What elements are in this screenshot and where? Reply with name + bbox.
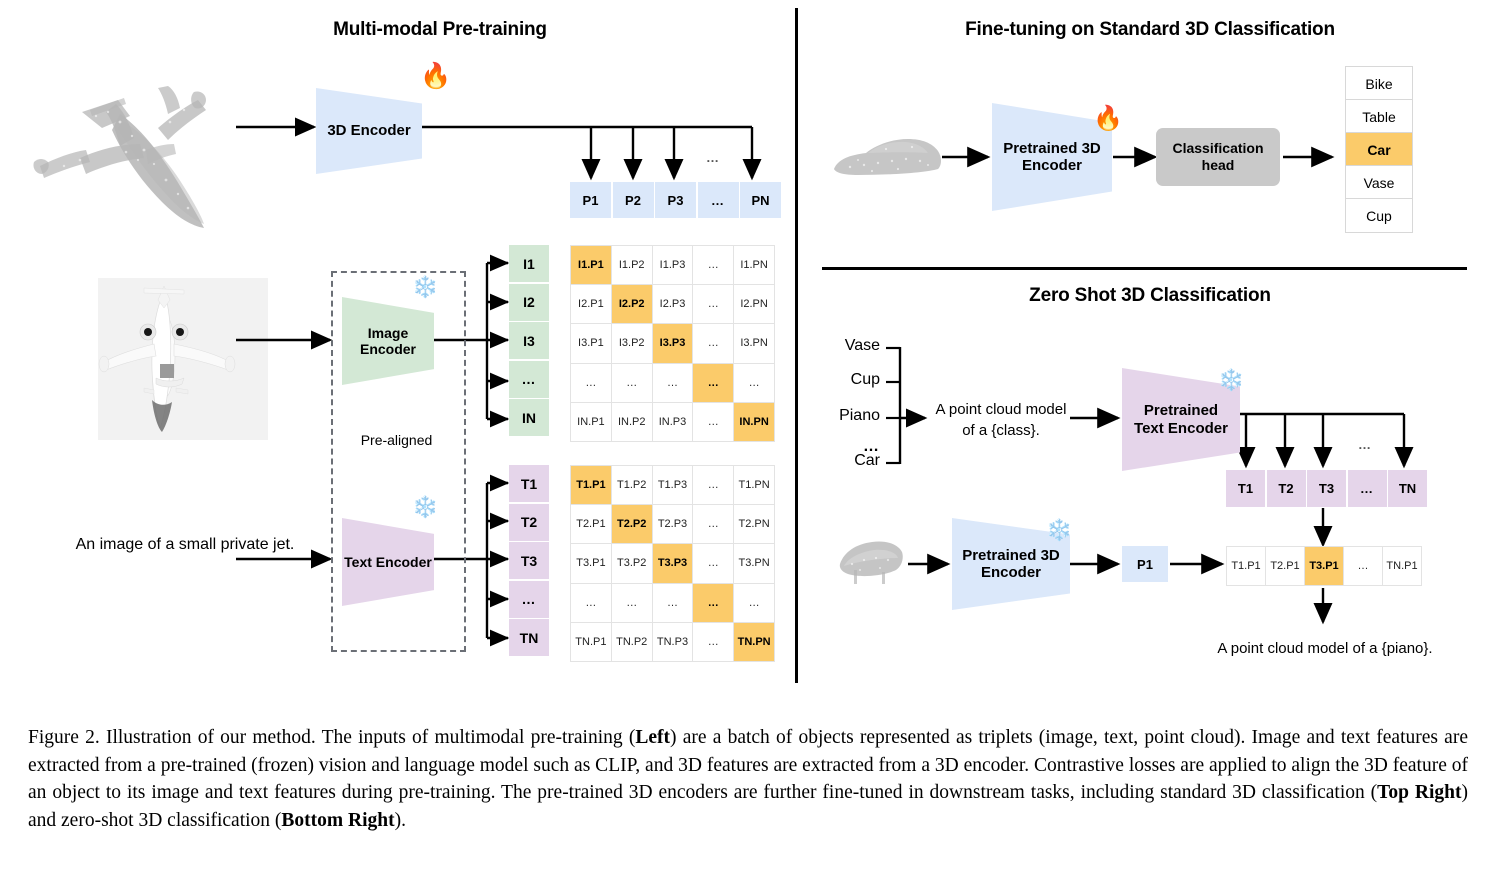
text-encoder-label: Text Encoder [344,554,432,570]
t-token[interactable]: T2 [1267,470,1306,507]
image-encoder-label: Image Encoder [342,325,434,357]
matrix-cell: I1.PN [734,246,775,285]
matrix-cell: IN.P3 [652,402,693,441]
t-row-ellipsis: … [1358,437,1372,452]
image-encoder-box[interactable]: Image Encoder [342,297,434,385]
zeroshot-class-cup: Cup [820,371,880,389]
text-token[interactable]: T2 [509,504,549,541]
class-option-car[interactable]: Car [1345,132,1413,167]
horizontal-divider [822,267,1467,270]
p-token[interactable]: P3 [655,182,696,218]
text-token[interactable]: T1 [509,465,549,502]
matrix-cell: I2.P1 [571,285,612,324]
matrix-cell: … [693,544,734,583]
image-similarity-matrix: I1.P1 I1.P2 I1.P3 … I1.PN I2.P1 I2.P2 I2… [570,245,775,442]
matrix-cell: T3.P3 [652,544,693,583]
matrix-cell: IN.P2 [611,402,652,441]
matrix-cell: … [693,402,734,441]
zeroshot-class-piano: Piano [814,407,880,425]
class-option-table[interactable]: Table [1345,99,1413,134]
class-label: Table [1362,109,1395,125]
t-token[interactable]: T1 [1226,470,1265,507]
matrix-cell: … [611,363,652,402]
matrix-cell: T2.P2 [611,505,652,544]
prompt-template-text: A point cloud model of a {class}. [930,399,1072,441]
matrix-cell: T1.PN [734,466,775,505]
matrix-cell: T3.P1 [571,544,612,583]
panel-title-pretraining: Multi-modal Pre-training [220,19,660,41]
matrix-cell: T3.P1 [1305,547,1344,586]
jet-image-thumbnail [98,278,268,440]
p-token: … [698,182,739,218]
car-point-cloud [828,125,948,190]
p-token[interactable]: PN [740,182,781,218]
matrix-cell: … [652,583,693,622]
fire-icon: 🔥 [1093,107,1123,131]
zeroshot-class-car: Car [820,452,880,470]
matrix-cell: I3.P1 [571,324,612,363]
input-text-caption: An image of a small private jet. [40,533,330,556]
matrix-cell: T1.P3 [652,466,693,505]
zeroshot-output-text: A point cloud model of a {piano}. [1180,640,1470,657]
encoder-3d-box[interactable]: 3D Encoder [316,88,422,174]
pretrained-3d-encoder-label: Pretrained 3D Encoder [959,547,1063,582]
zeroshot-similarity-row: T1.P1 T2.P1 T3.P1 … TN.P1 [1226,546,1422,586]
table-row: T2.P1 T2.P2 T2.P3 … T2.PN [571,505,775,544]
matrix-cell: I1.P3 [652,246,693,285]
classification-head-label: Classification head [1163,140,1273,174]
image-token[interactable]: I3 [509,322,549,359]
t-token[interactable]: TN [1388,470,1427,507]
matrix-cell: … [571,583,612,622]
class-option-bike[interactable]: Bike [1345,66,1413,101]
fire-icon: 🔥 [420,64,451,89]
matrix-cell: … [571,363,612,402]
matrix-cell: TN.P3 [652,622,693,661]
matrix-cell: … [652,363,693,402]
caption-text-4: ). [395,810,406,831]
matrix-cell: I1.P1 [571,246,612,285]
text-encoder-box[interactable]: Text Encoder [342,518,434,606]
matrix-cell: T1.P2 [611,466,652,505]
t-token: … [1348,470,1387,507]
matrix-cell: IN.P1 [571,402,612,441]
matrix-cell: TN.PN [734,622,775,661]
matrix-cell: T2.PN [734,505,775,544]
matrix-cell: … [1344,547,1383,586]
class-label: Car [1367,142,1390,158]
matrix-cell: T3.P2 [611,544,652,583]
snowflake-icon: ❄️ [1046,520,1072,541]
matrix-cell: … [693,466,734,505]
snowflake-icon: ❄️ [1218,370,1244,391]
p-row-ellipsis: … [706,150,720,165]
matrix-cell: TN.P2 [611,622,652,661]
table-row: … … … … … [571,363,775,402]
caption-text-1: Illustration of our method. The inputs o… [100,727,636,748]
matrix-cell: I3.PN [734,324,775,363]
caption-figure-label: Figure 2. [28,727,100,748]
text-token[interactable]: T3 [509,542,549,579]
class-label: Cup [1366,208,1392,224]
matrix-cell: … [611,583,652,622]
pretrained-3d-encoder-label: Pretrained 3D Encoder [1001,140,1103,175]
table-row: T1.P1 T1.P2 T1.P3 … T1.PN [571,466,775,505]
matrix-cell: I2.P3 [652,285,693,324]
matrix-cell: I3.P3 [652,324,693,363]
table-row: I3.P1 I3.P2 I3.P3 … I3.PN [571,324,775,363]
matrix-cell: I2.PN [734,285,775,324]
encoder-3d-label: 3D Encoder [327,122,410,139]
text-token: … [509,581,549,618]
matrix-cell: T1.P1 [571,466,612,505]
p-token-row: P1 P2 P3 … PN [570,182,781,218]
class-option-vase[interactable]: Vase [1345,165,1413,200]
table-row: I2.P1 I2.P2 I2.P3 … I2.PN [571,285,775,324]
image-token[interactable]: I1 [509,245,549,282]
matrix-cell: T3.PN [734,544,775,583]
matrix-cell: I2.P2 [611,285,652,324]
matrix-cell: I3.P2 [611,324,652,363]
caption-bold-bottomright: Bottom Right [281,810,394,831]
piano-point-cloud [830,528,912,590]
table-row: T3.P1 T3.P2 T3.P3 … T3.PN [571,544,775,583]
matrix-cell: … [693,324,734,363]
matrix-cell: IN.PN [734,402,775,441]
matrix-cell: … [693,285,734,324]
image-token-column: I1 I2 I3 … IN [509,245,549,436]
matrix-cell: … [734,363,775,402]
matrix-cell: … [693,583,734,622]
panel-title-zeroshot: Zero Shot 3D Classification [855,285,1445,307]
matrix-cell: TN.P1 [1383,547,1422,586]
panel-title-finetuning: Fine-tuning on Standard 3D Classificatio… [855,19,1445,41]
airplane-point-cloud [20,42,230,232]
class-option-cup[interactable]: Cup [1345,198,1413,233]
matrix-cell: T1.P1 [1227,547,1266,586]
p-token[interactable]: P2 [613,182,654,218]
matrix-cell: … [693,246,734,285]
snowflake-icon: ❄️ [412,497,438,518]
caption-bold-left: Left [635,727,670,748]
vertical-divider [795,8,798,683]
figure-caption: Figure 2. Illustration of our method. Th… [28,724,1468,835]
class-label: Vase [1364,175,1395,191]
zeroshot-t-token-row: T1 T2 T3 … TN [1226,470,1427,507]
matrix-cell: T2.P3 [652,505,693,544]
pre-aligned-label: Pre-aligned [331,432,462,448]
table-row: TN.P1 TN.P2 TN.P3 … TN.PN [571,622,775,661]
matrix-cell: T2.P1 [1266,547,1305,586]
table-row: I1.P1 I1.P2 I1.P3 … I1.PN [571,246,775,285]
image-token[interactable]: IN [509,399,549,436]
pretrained-text-encoder-label: Pretrained Text Encoder [1129,402,1233,437]
matrix-cell: … [734,583,775,622]
t-token[interactable]: T3 [1307,470,1346,507]
matrix-cell: I1.P2 [611,246,652,285]
table-row: T1.P1 T2.P1 T3.P1 … TN.P1 [1227,547,1422,586]
matrix-cell: … [693,505,734,544]
zeroshot-p-token[interactable]: P1 [1122,546,1168,582]
classification-head-box[interactable]: Classification head [1156,128,1280,186]
image-token: … [509,361,549,398]
matrix-cell: T2.P1 [571,505,612,544]
image-token[interactable]: I2 [509,284,549,321]
text-token-column: T1 T2 T3 … TN [509,465,549,656]
matrix-cell: TN.P1 [571,622,612,661]
table-row: IN.P1 IN.P2 IN.P3 … IN.PN [571,402,775,441]
table-row: … … … … … [571,583,775,622]
matrix-cell: … [693,622,734,661]
zeroshot-class-vase: Vase [820,337,880,355]
p-token[interactable]: P1 [570,182,611,218]
caption-bold-topright: Top Right [1377,782,1461,803]
text-similarity-matrix: T1.P1 T1.P2 T1.P3 … T1.PN T2.P1 T2.P2 T2… [570,465,775,662]
class-label: Bike [1365,76,1392,92]
snowflake-icon: ❄️ [412,277,438,298]
matrix-cell: … [693,363,734,402]
text-token[interactable]: TN [509,619,549,656]
